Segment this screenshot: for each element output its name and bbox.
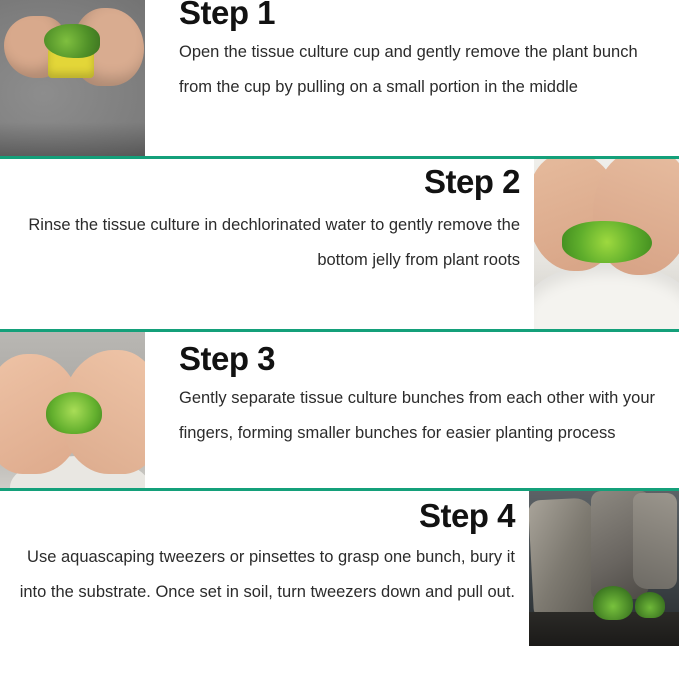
step-1-text-column: Step 1 Open the tissue culture cup and g…	[145, 0, 679, 156]
step-3-row: Step 3 Gently separate tissue culture bu…	[0, 332, 679, 488]
step-block-2: Step 2 Rinse the tissue culture in dechl…	[0, 159, 679, 332]
step-3-title: Step 3	[179, 342, 669, 375]
step-2-body: Rinse the tissue culture in dechlorinate…	[10, 208, 520, 278]
step-1-title: Step 1	[179, 0, 669, 29]
step-3-photo	[0, 332, 145, 488]
step-block-3: Step 3 Gently separate tissue culture bu…	[0, 332, 679, 491]
step-4-text-column: Step 4 Use aquascaping tweezers or pinse…	[0, 491, 529, 646]
step-block-4: Step 4 Use aquascaping tweezers or pinse…	[0, 491, 679, 646]
step-4-row: Step 4 Use aquascaping tweezers or pinse…	[0, 491, 679, 646]
step-4-photo	[529, 491, 679, 646]
step-2-title: Step 2	[10, 165, 520, 198]
step-1-photo	[0, 0, 145, 156]
step-block-1: Step 1 Open the tissue culture cup and g…	[0, 0, 679, 159]
step-2-photo	[534, 159, 679, 329]
step-3-text-column: Step 3 Gently separate tissue culture bu…	[145, 332, 679, 488]
step-4-title: Step 4	[10, 499, 515, 532]
step-4-body: Use aquascaping tweezers or pinsettes to…	[10, 540, 515, 610]
step-3-body: Gently separate tissue culture bunches f…	[179, 381, 669, 451]
instruction-sheet: Step 1 Open the tissue culture cup and g…	[0, 0, 679, 683]
step-2-row: Step 2 Rinse the tissue culture in dechl…	[0, 159, 679, 329]
step-2-text-column: Step 2 Rinse the tissue culture in dechl…	[0, 159, 534, 329]
step-1-body: Open the tissue culture cup and gently r…	[179, 35, 669, 105]
step-1-row: Step 1 Open the tissue culture cup and g…	[0, 0, 679, 156]
